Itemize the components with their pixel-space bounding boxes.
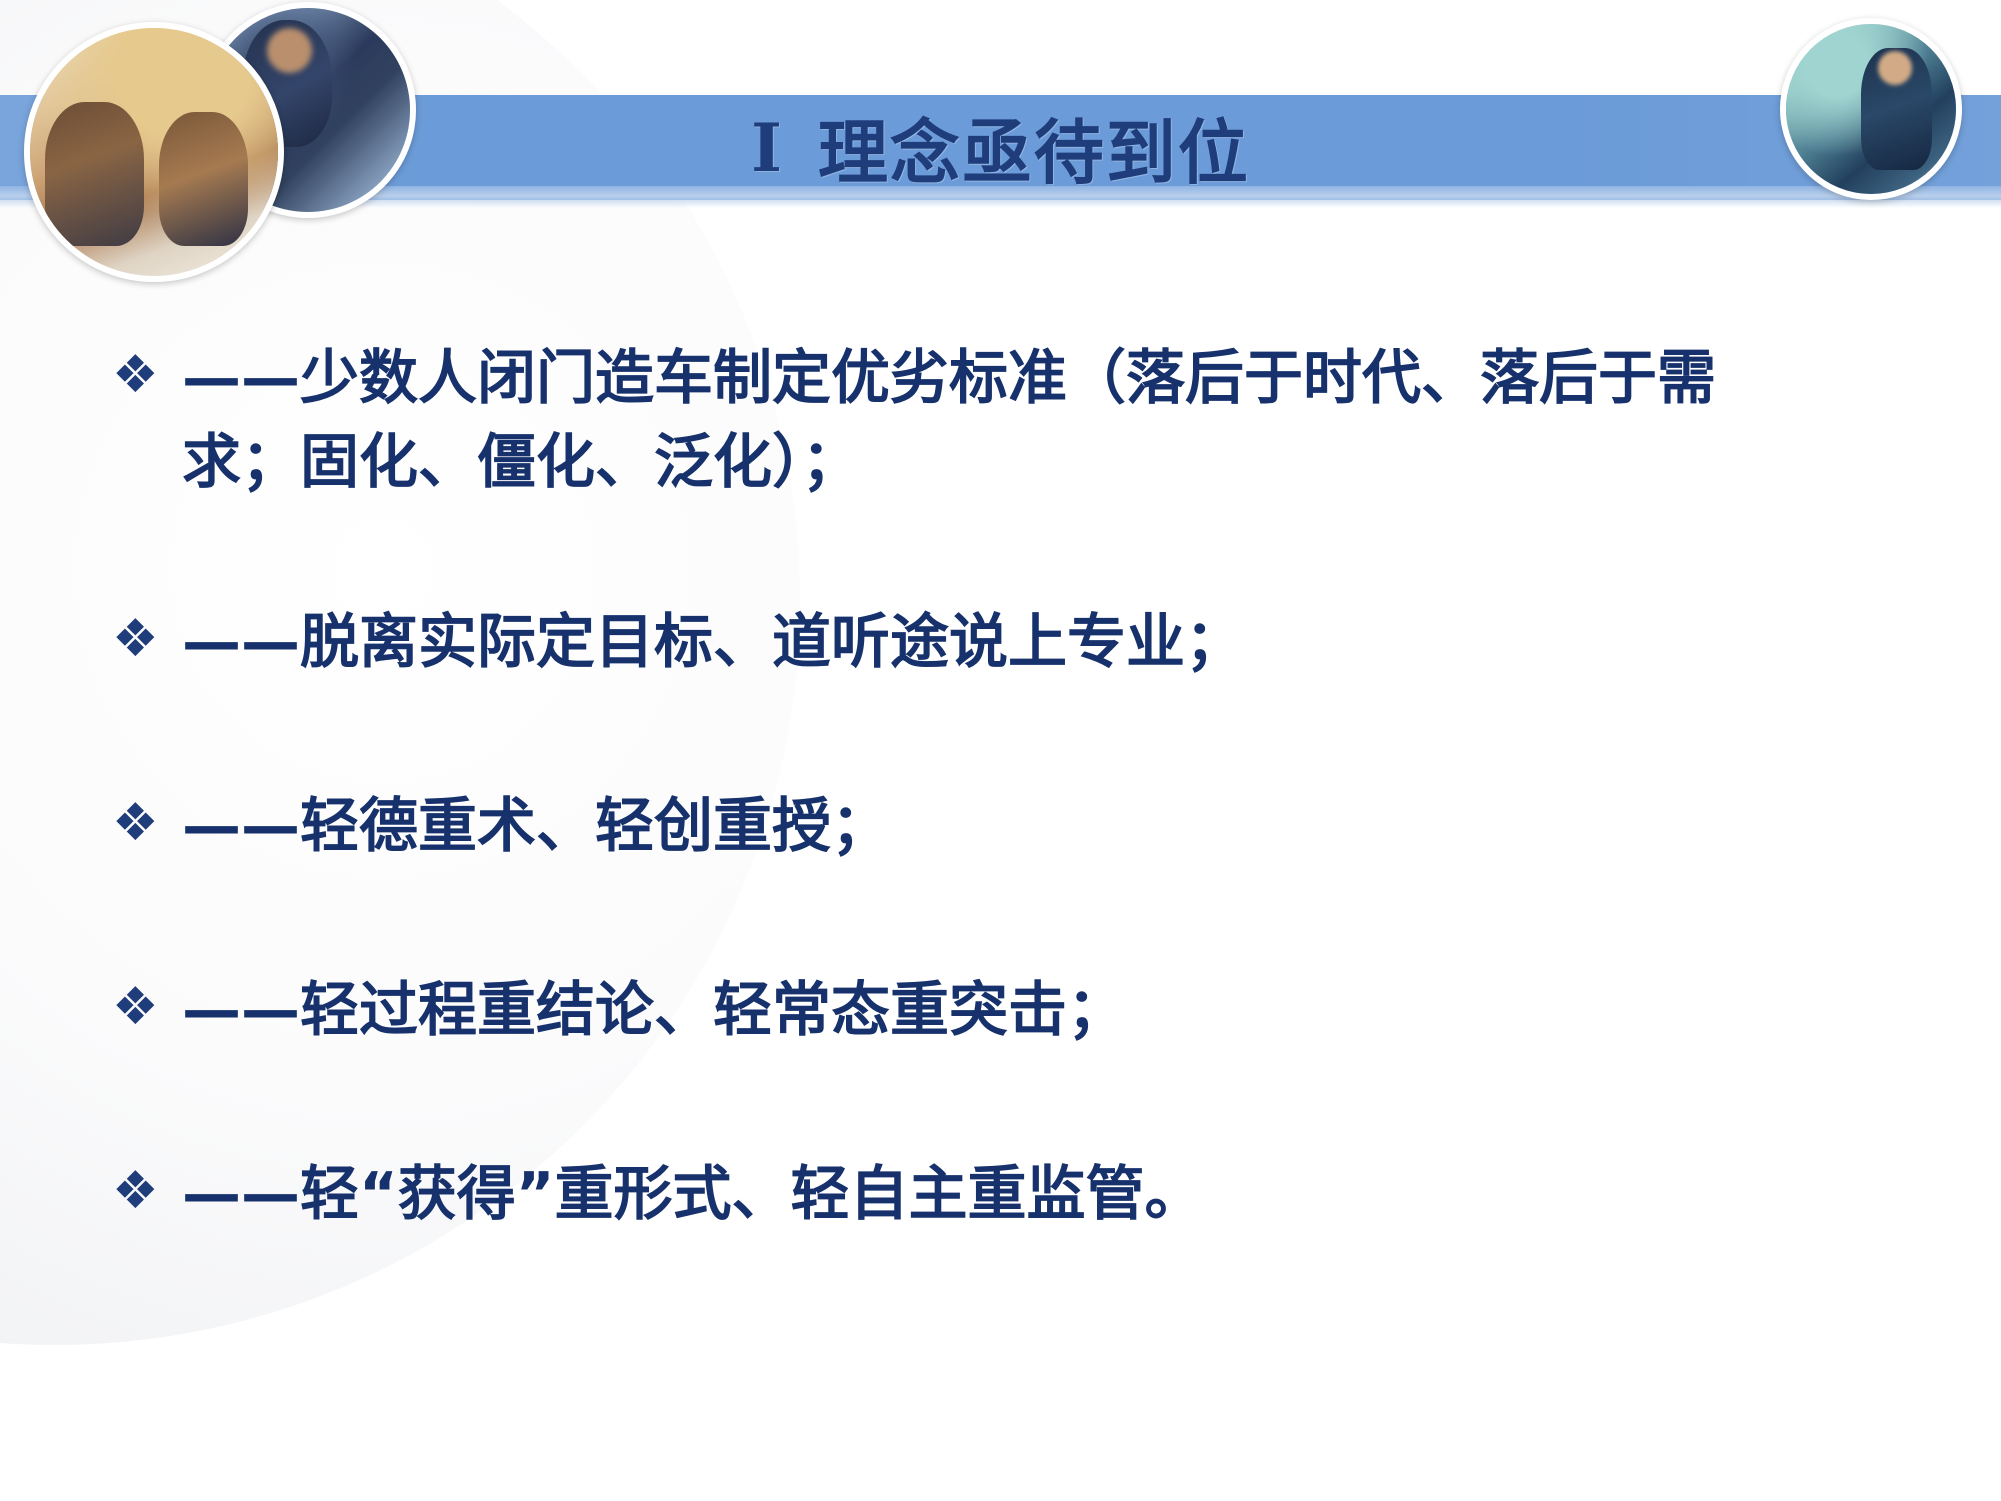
diamond-bullet-icon: ❖ [112, 336, 182, 414]
list-item: ❖ ——少数人闭门造车制定优劣标准（落后于时代、落后于需求；固化、僵化、泛化）； [112, 336, 1912, 504]
photo-top-left-large [24, 22, 284, 282]
slide-title-text: 理念亟待到位 [818, 97, 1250, 198]
list-item: ❖ ——轻过程重结论、轻常态重突击； [112, 968, 1912, 1052]
bullet-list: ❖ ——少数人闭门造车制定优劣标准（落后于时代、落后于需求；固化、僵化、泛化）；… [112, 336, 1912, 1302]
slide-title-numeral: Ⅰ [751, 109, 784, 187]
diamond-bullet-icon: ❖ [112, 1152, 182, 1230]
diamond-bullet-icon: ❖ [112, 784, 182, 862]
list-item-text: ——轻德重术、轻创重授； [182, 784, 1912, 868]
photo-top-right [1780, 18, 1962, 200]
slide-canvas: Ⅰ 理念亟待到位 ❖ ——少数人闭门造车制定优劣标准（落后于时代、落后于需求；固… [0, 0, 2001, 1501]
photo-top-left-large-image [30, 28, 278, 276]
list-item: ❖ ——轻“获得”重形式、轻自主重监管。 [112, 1152, 1912, 1236]
list-item-text: ——少数人闭门造车制定优劣标准（落后于时代、落后于需求；固化、僵化、泛化）； [182, 336, 1792, 504]
list-item-text: ——轻“获得”重形式、轻自主重监管。 [182, 1152, 1912, 1236]
diamond-bullet-icon: ❖ [112, 968, 182, 1046]
list-item-text: ——轻过程重结论、轻常态重突击； [182, 968, 1912, 1052]
diamond-bullet-icon: ❖ [112, 600, 182, 678]
list-item-text: ——脱离实际定目标、道听途说上专业； [182, 600, 1912, 684]
list-item: ❖ ——脱离实际定目标、道听途说上专业； [112, 600, 1912, 684]
list-item: ❖ ——轻德重术、轻创重授； [112, 784, 1912, 868]
photo-top-right-image [1786, 24, 1956, 194]
